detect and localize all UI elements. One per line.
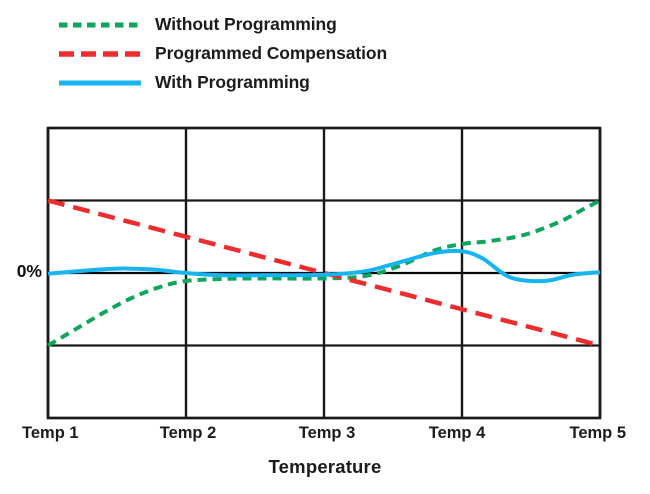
x-tick-label-temp-4: Temp 4 (429, 424, 486, 443)
x-axis-title: Temperature (0, 456, 650, 478)
y-axis-zero-label: 0% (0, 261, 42, 282)
plot-area: 0% Temp 1 Temp 2 Temp 3 Temp 4 Temp 5 Te… (0, 0, 650, 494)
x-tick-label-temp-1: Temp 1 (22, 424, 79, 443)
x-tick-label-temp-2: Temp 2 (160, 424, 217, 443)
chart-figure: Without Programming Programmed Compensat… (0, 0, 650, 494)
x-tick-label-temp-5: Temp 5 (569, 424, 626, 443)
x-tick-label-temp-3: Temp 3 (299, 424, 356, 443)
